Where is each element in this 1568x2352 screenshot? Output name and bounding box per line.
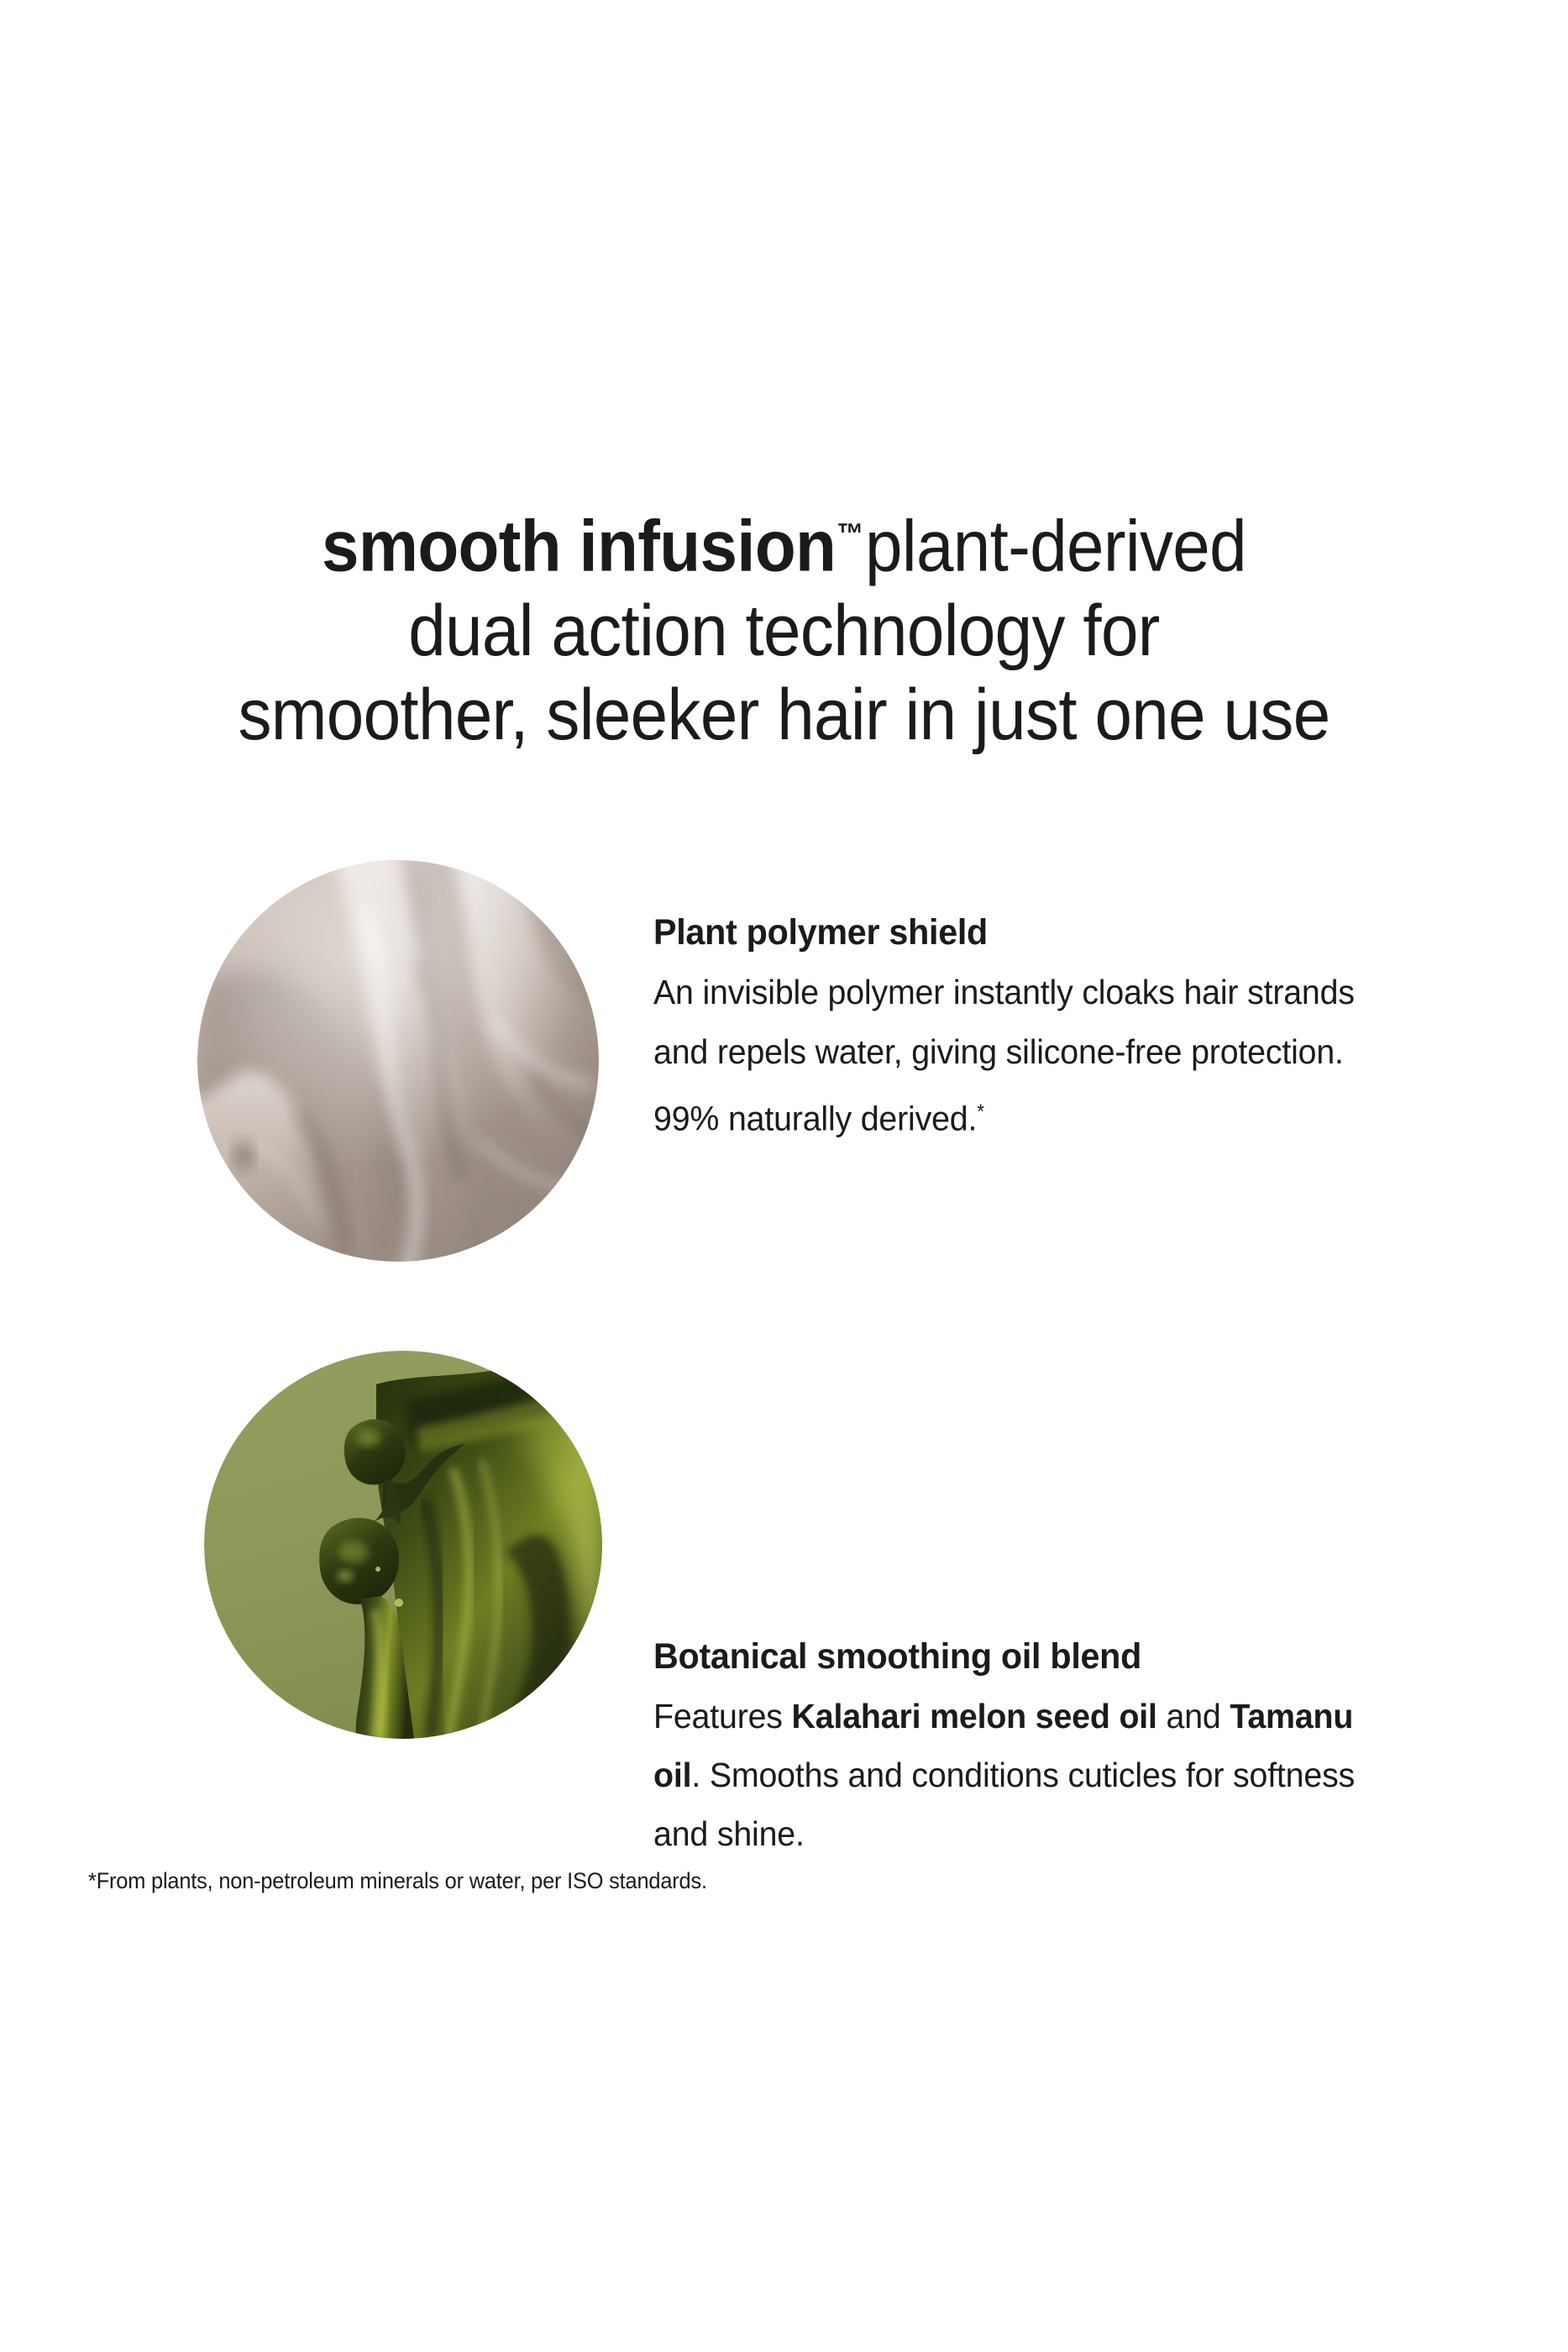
ingredient-kalahari-melon-seed-oil: Kalahari melon seed oil	[792, 1697, 1157, 1735]
page-headline: smooth infusion™plant-derived dual actio…	[55, 492, 1513, 757]
footnote-disclaimer: *From plants, non-petroleum minerals or …	[88, 1866, 1193, 1895]
plant-polymer-cream-swatch-image	[197, 860, 599, 1262]
feature-body: An invisible polymer instantly cloaks ha…	[653, 963, 1355, 1149]
feature-body-text-part-2: and	[1157, 1697, 1230, 1735]
trademark-icon: ™	[836, 518, 863, 550]
product-benefits-panel: smooth infusion™plant-derived dual actio…	[0, 0, 1568, 2352]
feature-body-text: An invisible polymer instantly cloaks ha…	[653, 973, 1355, 1138]
feature-title: Botanical smoothing oil blend	[653, 1635, 1355, 1678]
brand-name: smooth infusion	[322, 507, 836, 587]
headline-line-1: smooth infusion™plant-derived	[55, 492, 1513, 589]
headline-line-1-rest: plant-derived	[865, 507, 1246, 587]
footnote-marker: *	[977, 1100, 984, 1123]
botanical-oil-drip-swatch-image	[204, 1351, 602, 1739]
feature-copy-botanical-smoothing-oil-blend: Botanical smoothing oil blend Features K…	[653, 1635, 1384, 1863]
feature-copy-plant-polymer-shield: Plant polymer shield An invisible polyme…	[653, 911, 1384, 1149]
headline-line-3: smoother, sleeker hair in just one use	[55, 673, 1513, 757]
oil-drip-graphic	[204, 1351, 602, 1739]
feature-title: Plant polymer shield	[653, 911, 1355, 954]
feature-body: Features Kalahari melon seed oil and Tam…	[653, 1687, 1355, 1863]
feature-body-text-part-3: . Smooths and conditions cuticles for so…	[653, 1756, 1355, 1853]
cream-swatch-graphic	[197, 860, 599, 1262]
feature-body-text-part-1: Features	[653, 1697, 792, 1735]
headline-line-2: dual action technology for	[55, 589, 1513, 673]
